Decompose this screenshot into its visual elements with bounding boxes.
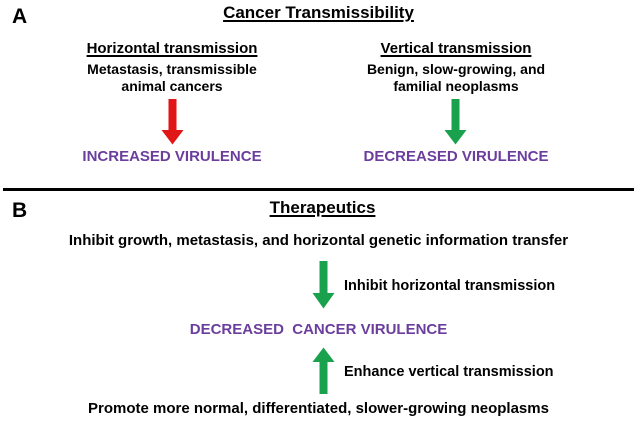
red-down-arrow [160,99,185,145]
panel-a-title: Cancer Transmissibility [0,3,637,23]
green-down-arrow-panel-a [443,99,468,145]
panel-b-top-statement: Inhibit growth, metastasis, and horizont… [0,232,637,250]
label-enhance-vertical-transmission: Enhance vertical transmission [344,364,554,381]
green-up-arrow-panel-b [311,347,336,395]
column-body-horizontal-line1: Metastasis, transmissible [42,61,302,77]
statement-decreased-cancer-virulence: DECREASED CANCER VIRULENCE [0,321,637,338]
column-body-horizontal-line2: animal cancers [42,78,302,94]
conclusion-decreased-virulence: DECREASED VIRULENCE [306,148,606,165]
panel-divider-rule [3,188,634,191]
label-inhibit-horizontal-transmission: Inhibit horizontal transmission [344,278,555,295]
column-heading-vertical-transmission: Vertical transmission [330,40,582,58]
panel-b-bottom-statement: Promote more normal, differentiated, slo… [0,400,637,418]
column-body-vertical-line1: Benign, slow-growing, and [330,61,582,77]
panel-b-title: Therapeutics [0,198,637,218]
column-heading-horizontal-transmission: Horizontal transmission [42,40,302,58]
green-down-arrow-panel-b [311,261,336,309]
conclusion-increased-virulence: INCREASED VIRULENCE [22,148,322,165]
column-body-vertical-line2: familial neoplasms [330,78,582,94]
figure-root: A Cancer Transmissibility Horizontal tra… [0,0,637,426]
